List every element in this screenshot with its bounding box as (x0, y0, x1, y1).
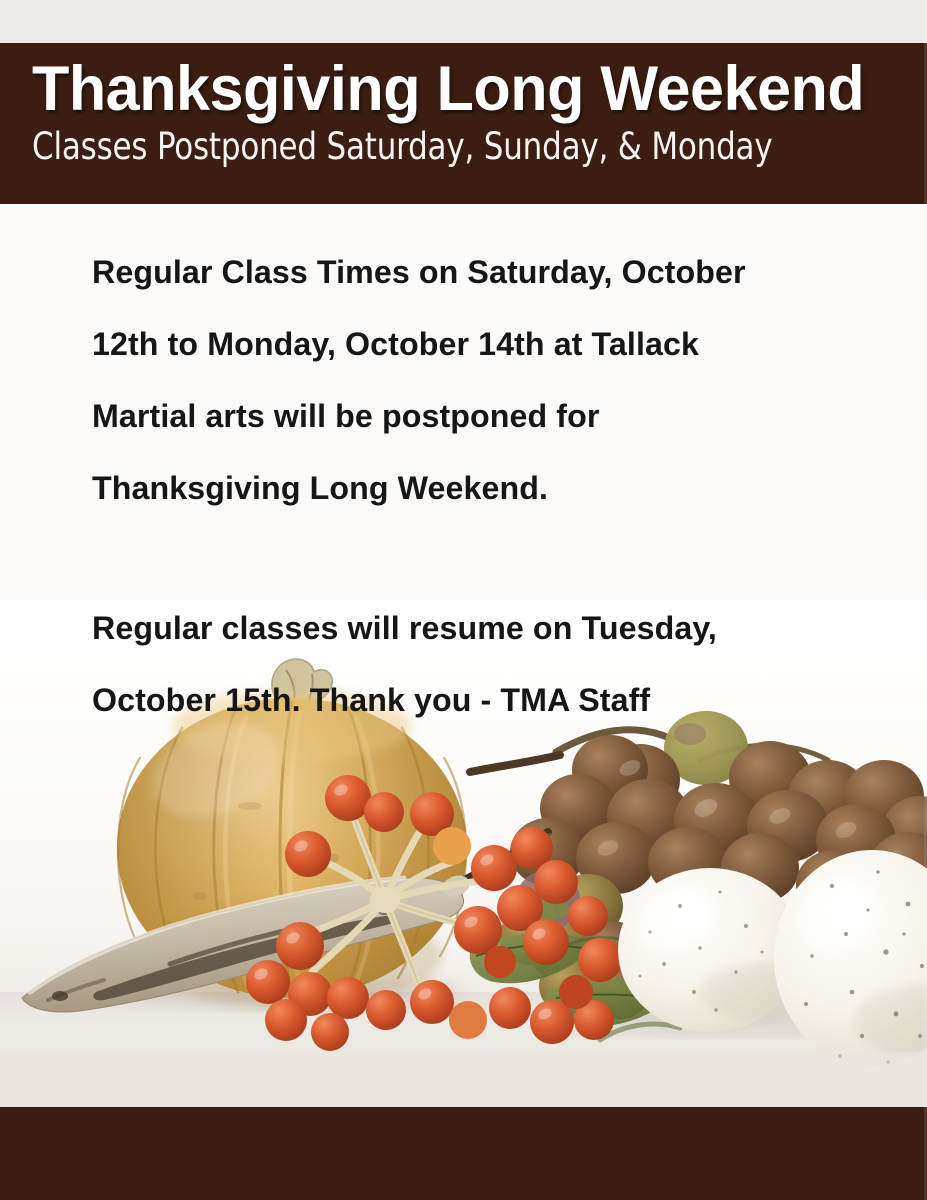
footer-bar (0, 1107, 927, 1200)
body-line: Martial arts will be postponed for (92, 380, 844, 452)
body-line: Regular classes will resume on Tuesday, (92, 592, 844, 664)
announcement-body: Regular Class Times on Saturday, October… (92, 236, 852, 736)
header-banner: Thanksgiving Long Weekend Classes Postpo… (0, 43, 927, 204)
body-line: October 15th. Thank you - TMA Staff (92, 664, 844, 736)
grape-main-vine (470, 755, 560, 772)
page-title: Thanksgiving Long Weekend (32, 49, 900, 121)
body-line: 12th to Monday, October 14th at Tallack (92, 308, 844, 380)
paragraph-gap (92, 524, 852, 592)
body-line: Regular Class Times on Saturday, October (92, 236, 844, 308)
top-strip (0, 0, 927, 43)
page-subtitle: Classes Postponed Saturday, Sunday, & Mo… (32, 121, 864, 168)
body-line: Thanksgiving Long Weekend. (92, 452, 844, 524)
poster-canvas: Thanksgiving Long Weekend Classes Postpo… (0, 0, 927, 1200)
